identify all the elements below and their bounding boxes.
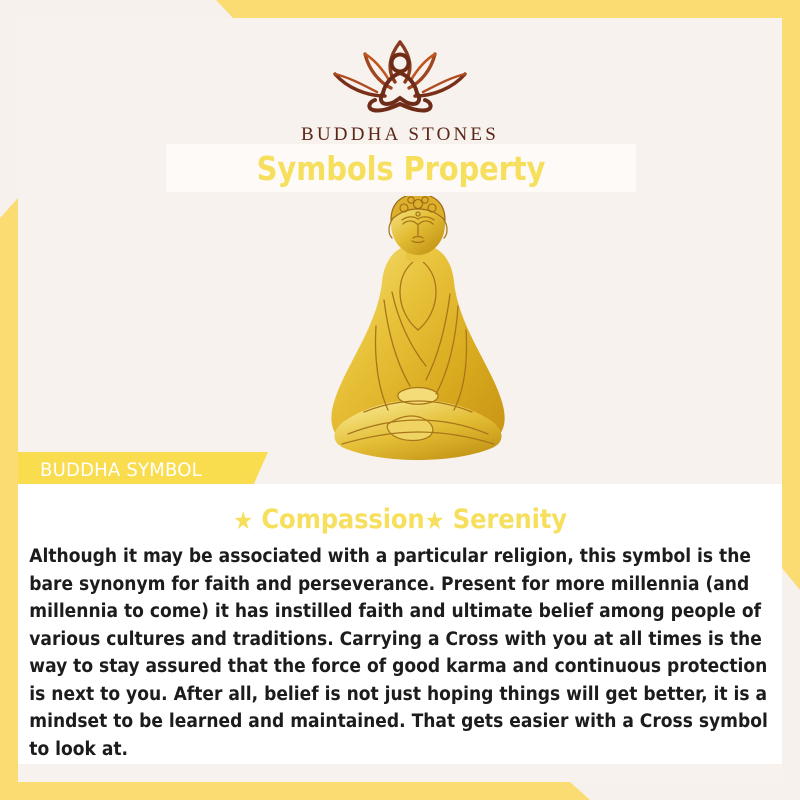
decorative-band-left [0, 198, 18, 800]
decorative-band-right [782, 0, 800, 590]
seated-buddha-statue-icon [318, 196, 518, 496]
tagline-serenity: Serenity [453, 504, 567, 535]
content-card: ★ Compassion★ Serenity Although it may b… [18, 484, 782, 764]
section-label: BUDDHA SYMBOL [40, 459, 202, 481]
star-icon-2: ★ [424, 506, 444, 535]
lotus-meditation-icon [305, 30, 495, 122]
brand-name: BUDDHA STONES [18, 124, 782, 146]
title-banner: Symbols Property [166, 144, 636, 192]
section-label-banner: BUDDHA SYMBOL [18, 452, 268, 488]
body-text: Although it may be associated with a par… [18, 543, 781, 763]
hero-image [318, 196, 518, 496]
decorative-band-bottom [0, 782, 800, 800]
decorative-band-top [0, 0, 800, 18]
star-icon-1: ★ [233, 506, 253, 535]
tagline: ★ Compassion★ Serenity [56, 504, 744, 535]
brand-logo: BUDDHA STONES [18, 18, 782, 146]
poster-canvas: BUDDHA STONES Symbols Property [0, 0, 800, 800]
page-title: Symbols Property [257, 149, 546, 188]
tagline-compassion: Compassion [261, 504, 424, 535]
